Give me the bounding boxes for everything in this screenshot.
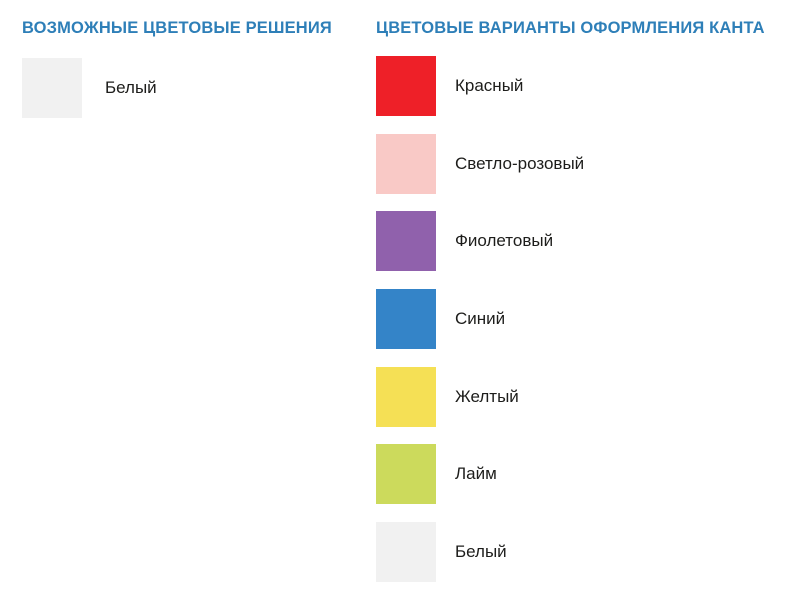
swatch-row[interactable]: Красный: [354, 56, 800, 134]
left-column-header: ВОЗМОЖНЫЕ ЦВЕТОВЫЕ РЕШЕНИЯ: [22, 18, 332, 38]
color-swatch-label: Фиолетовый: [455, 211, 553, 271]
swatch-row[interactable]: Белый: [0, 58, 360, 136]
right-column-header: ЦВЕТОВЫЕ ВАРИАНТЫ ОФОРМЛЕНИЯ КАНТА: [376, 18, 765, 38]
color-swatch-label: Красный: [455, 56, 523, 116]
color-swatch[interactable]: [376, 444, 436, 504]
color-swatch[interactable]: [376, 134, 436, 194]
swatch-row[interactable]: Светло-розовый: [354, 134, 800, 212]
color-swatch[interactable]: [376, 211, 436, 271]
left-swatch-list: Белый: [0, 58, 360, 136]
color-swatch-label: Лайм: [455, 444, 497, 504]
right-swatch-list: КрасныйСветло-розовыйФиолетовыйСинийЖелт…: [354, 56, 800, 600]
color-swatch[interactable]: [376, 56, 436, 116]
color-swatch[interactable]: [376, 522, 436, 582]
color-swatch-label: Белый: [105, 58, 157, 118]
color-swatch-label: Светло-розовый: [455, 134, 584, 194]
swatch-row[interactable]: Белый: [354, 522, 800, 600]
swatch-row[interactable]: Фиолетовый: [354, 211, 800, 289]
color-swatch[interactable]: [22, 58, 82, 118]
color-swatch[interactable]: [376, 289, 436, 349]
color-options-page: ВОЗМОЖНЫЕ ЦВЕТОВЫЕ РЕШЕНИЯ Белый ЦВЕТОВЫ…: [0, 0, 800, 600]
swatch-row[interactable]: Желтый: [354, 367, 800, 445]
color-swatch-label: Синий: [455, 289, 505, 349]
color-swatch-label: Белый: [455, 522, 507, 582]
color-swatch[interactable]: [376, 367, 436, 427]
color-swatch-label: Желтый: [455, 367, 519, 427]
swatch-row[interactable]: Синий: [354, 289, 800, 367]
swatch-row[interactable]: Лайм: [354, 444, 800, 522]
